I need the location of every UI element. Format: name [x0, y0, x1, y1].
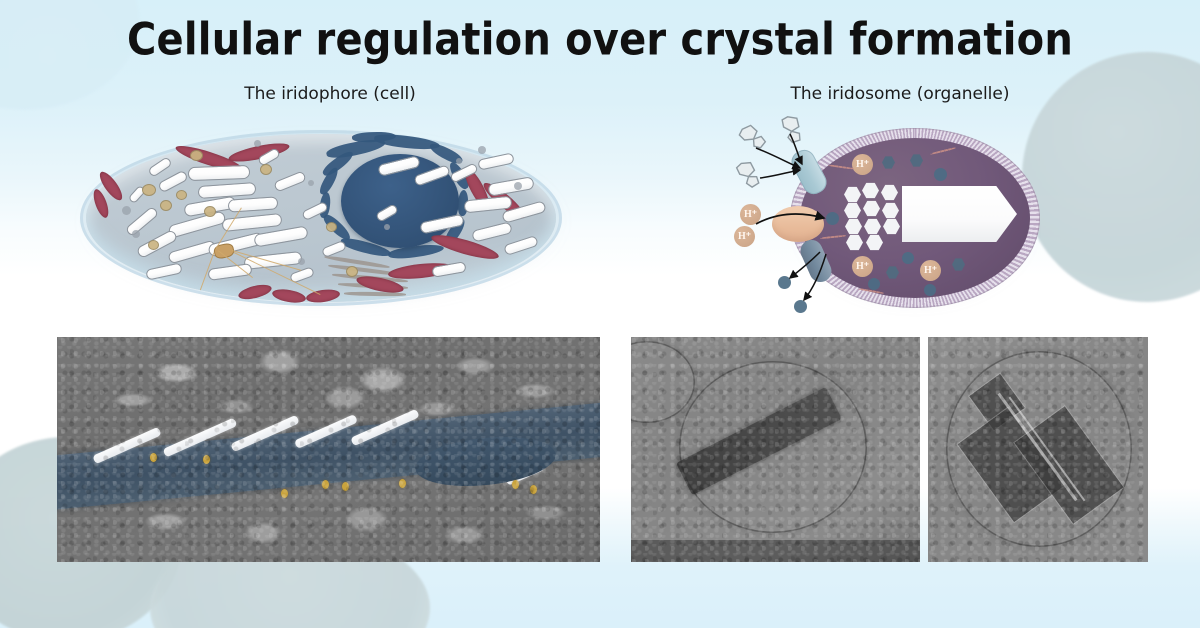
lumen-ion	[902, 252, 914, 264]
vesicle	[190, 150, 203, 161]
cytosol-granule	[456, 158, 462, 164]
guanine-molecule-icon	[770, 109, 808, 144]
lumen-ion	[826, 212, 839, 225]
cytosol-granule	[298, 258, 305, 265]
cytosol-granule	[132, 230, 140, 238]
iridosome-platelet	[188, 165, 250, 181]
proton-lumen: H⁺	[920, 260, 941, 281]
lumen-ion	[924, 284, 936, 296]
cryo-noise-overlay	[928, 337, 1148, 562]
vesicle	[260, 164, 272, 175]
vesicle	[346, 266, 358, 277]
lumen-ion	[934, 168, 947, 181]
guanine-molecule-icon	[732, 121, 767, 153]
cytosol-granule	[122, 206, 131, 215]
cytosol-granule	[514, 182, 522, 190]
figure-canvas: Cellular regulation over crystal formati…	[0, 0, 1200, 628]
cryo-em-iridosome-side	[631, 337, 920, 562]
right-panel-subtitle: The iridosome (organelle)	[720, 84, 1080, 104]
proton-outside: H⁺	[740, 204, 761, 225]
exported-ion	[794, 300, 807, 313]
proton-lumen: H⁺	[852, 256, 873, 277]
cytosol-granule	[254, 140, 261, 147]
vesicle	[148, 240, 159, 250]
proton-outside: H⁺	[734, 226, 755, 247]
guanine-crystal	[902, 186, 1017, 242]
cytosol-granule	[384, 224, 390, 230]
vesicle	[160, 200, 172, 211]
proton-pump	[772, 206, 824, 242]
vesicle	[142, 184, 156, 196]
page-title: Cellular regulation over crystal formati…	[0, 14, 1200, 66]
cryo-noise-overlay	[631, 337, 920, 562]
left-panel-subtitle: The iridophore (cell)	[160, 84, 500, 104]
vesicle	[204, 206, 216, 217]
sem-iridophore-section	[57, 337, 600, 562]
cytosol-granule	[308, 180, 314, 186]
proton-lumen: H⁺	[852, 154, 873, 175]
iridophore-cell-illustration	[58, 118, 578, 318]
vesicle	[326, 222, 337, 232]
lumen-ion	[868, 278, 880, 290]
cytosol-granule	[478, 146, 486, 154]
exported-ion	[778, 276, 791, 289]
vesicle	[176, 190, 187, 200]
iridosome-organelle-illustration: H⁺ H⁺ H⁺ H⁺ H⁺	[716, 108, 1046, 323]
em-noise-overlay	[57, 337, 600, 562]
guanine-molecule-icon	[728, 158, 761, 188]
cryo-em-iridosome-top	[928, 337, 1148, 562]
